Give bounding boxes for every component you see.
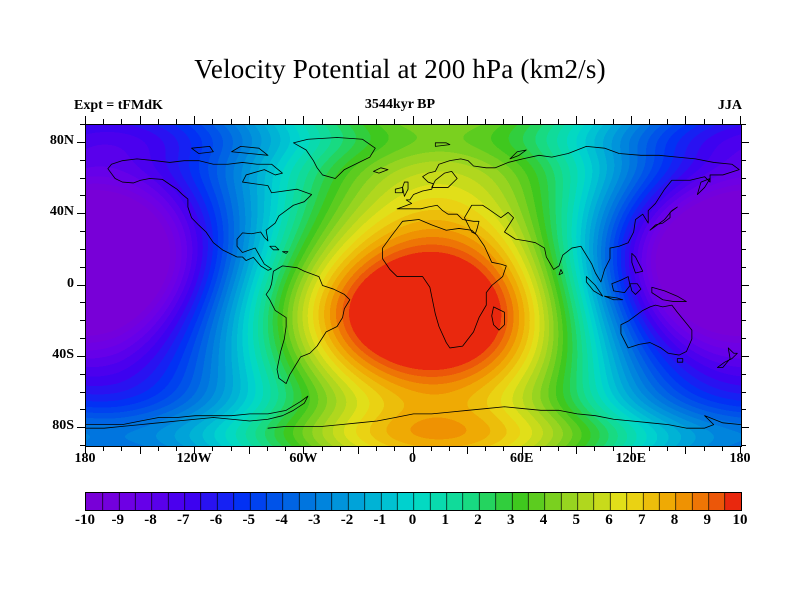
- x-axis-label: 120E: [616, 452, 646, 466]
- axis-tick: [77, 356, 85, 357]
- colorbar-tick-label: 7: [638, 513, 646, 528]
- axis-tick: [322, 119, 323, 124]
- colorbar-tick-label: -1: [374, 513, 387, 528]
- x-axis-label: 60E: [510, 452, 533, 466]
- axis-tick: [376, 119, 377, 124]
- axis-tick: [80, 267, 85, 268]
- axis-tick: [80, 374, 85, 375]
- axis-tick: [576, 116, 577, 124]
- axis-tick: [741, 427, 749, 428]
- axis-tick: [540, 446, 541, 451]
- axis-tick: [267, 446, 268, 451]
- axis-tick: [80, 249, 85, 250]
- axis-tick: [394, 119, 395, 124]
- axis-tick: [741, 320, 746, 321]
- axis-tick: [467, 446, 468, 454]
- axis-tick: [413, 116, 414, 124]
- experiment-label: Expt = tFMdK: [74, 98, 163, 114]
- axis-tick: [558, 446, 559, 451]
- colorbar-tick-label: -5: [243, 513, 256, 528]
- axis-tick: [631, 446, 632, 454]
- axis-tick: [741, 267, 746, 268]
- axis-tick: [80, 320, 85, 321]
- x-axis-label: 120W: [177, 452, 212, 466]
- colorbar-tick-label: -4: [275, 513, 288, 528]
- axis-tick: [741, 338, 746, 339]
- axis-tick: [303, 446, 304, 454]
- axis-tick: [80, 392, 85, 393]
- x-axis-label: 180: [730, 452, 751, 466]
- axis-tick: [741, 231, 746, 232]
- axis-tick: [741, 178, 746, 179]
- axis-tick: [741, 195, 746, 196]
- colorbar-tick-label: 9: [704, 513, 712, 528]
- axis-tick: [212, 119, 213, 124]
- axis-tick: [158, 446, 159, 451]
- axis-tick: [376, 446, 377, 451]
- colorbar-tick-label: -7: [177, 513, 190, 528]
- axis-tick: [741, 213, 749, 214]
- axis-tick: [121, 119, 122, 124]
- axis-tick: [594, 119, 595, 124]
- axis-tick: [85, 116, 86, 124]
- axis-tick: [303, 116, 304, 124]
- colorbar-tick-label: 4: [540, 513, 548, 528]
- x-axis-label: 60W: [289, 452, 317, 466]
- axis-tick: [431, 446, 432, 451]
- y-axis-label: 40S: [28, 348, 74, 362]
- colorbar-tick-label: 1: [442, 513, 450, 528]
- axis-tick: [741, 285, 749, 286]
- axis-tick: [741, 302, 746, 303]
- axis-tick: [140, 446, 141, 454]
- axis-tick: [212, 446, 213, 451]
- axis-tick: [103, 446, 104, 451]
- axis-tick: [103, 119, 104, 124]
- velocity-potential-field: [86, 125, 741, 446]
- axis-tick: [231, 446, 232, 451]
- axis-tick: [741, 142, 749, 143]
- axis-tick: [77, 142, 85, 143]
- colorbar-tick-label: 0: [409, 513, 417, 528]
- y-axis-label: 0: [28, 277, 74, 291]
- axis-tick: [340, 119, 341, 124]
- axis-tick: [431, 119, 432, 124]
- axis-tick: [503, 119, 504, 124]
- figure-root: Velocity Potential at 200 hPa (km2/s) 35…: [0, 0, 800, 600]
- axis-tick: [285, 446, 286, 451]
- axis-tick: [322, 446, 323, 451]
- axis-tick: [667, 119, 668, 124]
- x-axis-label: 180: [75, 452, 96, 466]
- axis-tick: [741, 124, 746, 125]
- axis-tick: [485, 446, 486, 451]
- y-axis-label: 80S: [28, 419, 74, 433]
- axis-tick: [77, 213, 85, 214]
- axis-tick: [613, 446, 614, 451]
- colorbar-tick-label: -2: [341, 513, 354, 528]
- axis-tick: [741, 249, 746, 250]
- colorbar-tick-label: -6: [210, 513, 223, 528]
- axis-tick: [176, 119, 177, 124]
- axis-tick: [540, 119, 541, 124]
- colorbar-gradient: [86, 493, 741, 510]
- axis-tick: [741, 160, 746, 161]
- axis-tick: [741, 409, 746, 410]
- axis-tick: [249, 446, 250, 454]
- axis-tick: [649, 446, 650, 451]
- axis-tick: [85, 446, 86, 454]
- axis-tick: [194, 116, 195, 124]
- axis-tick: [685, 116, 686, 124]
- axis-tick: [80, 160, 85, 161]
- axis-tick: [358, 446, 359, 454]
- colorbar-tick-label: 5: [573, 513, 581, 528]
- axis-tick: [80, 445, 85, 446]
- axis-tick: [340, 446, 341, 451]
- axis-tick: [741, 374, 746, 375]
- colorbar-tick-label: 2: [474, 513, 482, 528]
- colorbar-tick-label: 3: [507, 513, 515, 528]
- colorbar-tick-label: 10: [733, 513, 748, 528]
- axis-tick: [558, 119, 559, 124]
- axis-tick: [77, 285, 85, 286]
- axis-tick: [503, 446, 504, 451]
- axis-tick: [80, 302, 85, 303]
- axis-tick: [667, 446, 668, 451]
- axis-tick: [413, 446, 414, 454]
- colorbar-tick-label: -10: [75, 513, 95, 528]
- axis-tick: [176, 446, 177, 451]
- axis-tick: [80, 338, 85, 339]
- colorbar-tick-label: -3: [308, 513, 321, 528]
- axis-tick: [249, 116, 250, 124]
- axis-tick: [449, 446, 450, 451]
- axis-tick: [121, 446, 122, 451]
- axis-tick: [394, 446, 395, 451]
- axis-tick: [704, 446, 705, 451]
- axis-tick: [80, 124, 85, 125]
- axis-tick: [522, 116, 523, 124]
- colorbar-tick-label: -8: [144, 513, 157, 528]
- axis-tick: [80, 195, 85, 196]
- colorbar-tick-label: 6: [605, 513, 613, 528]
- axis-tick: [740, 446, 741, 454]
- axis-tick: [741, 356, 749, 357]
- axis-tick: [741, 445, 746, 446]
- axis-tick: [704, 119, 705, 124]
- axis-tick: [685, 446, 686, 454]
- axis-tick: [140, 116, 141, 124]
- axis-tick: [594, 446, 595, 451]
- colorbar-tick-label: 8: [671, 513, 679, 528]
- axis-tick: [77, 427, 85, 428]
- axis-tick: [741, 392, 746, 393]
- axis-tick: [194, 446, 195, 454]
- axis-tick: [267, 119, 268, 124]
- y-axis-label: 40N: [28, 205, 74, 219]
- axis-tick: [485, 119, 486, 124]
- axis-tick: [449, 119, 450, 124]
- axis-tick: [522, 446, 523, 454]
- axis-tick: [158, 119, 159, 124]
- page-title: Velocity Potential at 200 hPa (km2/s): [0, 54, 800, 85]
- axis-tick: [285, 119, 286, 124]
- axis-tick: [740, 116, 741, 124]
- axis-tick: [613, 119, 614, 124]
- colorbar: [85, 492, 742, 511]
- axis-tick: [576, 446, 577, 454]
- axis-tick: [649, 119, 650, 124]
- map-plot-area: [85, 124, 742, 447]
- x-axis-label: 0: [409, 452, 416, 466]
- axis-tick: [722, 446, 723, 451]
- axis-tick: [722, 119, 723, 124]
- colorbar-tick-label: -9: [112, 513, 125, 528]
- axis-tick: [80, 178, 85, 179]
- axis-tick: [231, 119, 232, 124]
- axis-tick: [80, 409, 85, 410]
- axis-tick: [80, 231, 85, 232]
- axis-tick: [467, 116, 468, 124]
- axis-tick: [358, 116, 359, 124]
- y-axis-label: 80N: [28, 134, 74, 148]
- axis-tick: [631, 116, 632, 124]
- season-label: JJA: [718, 98, 742, 114]
